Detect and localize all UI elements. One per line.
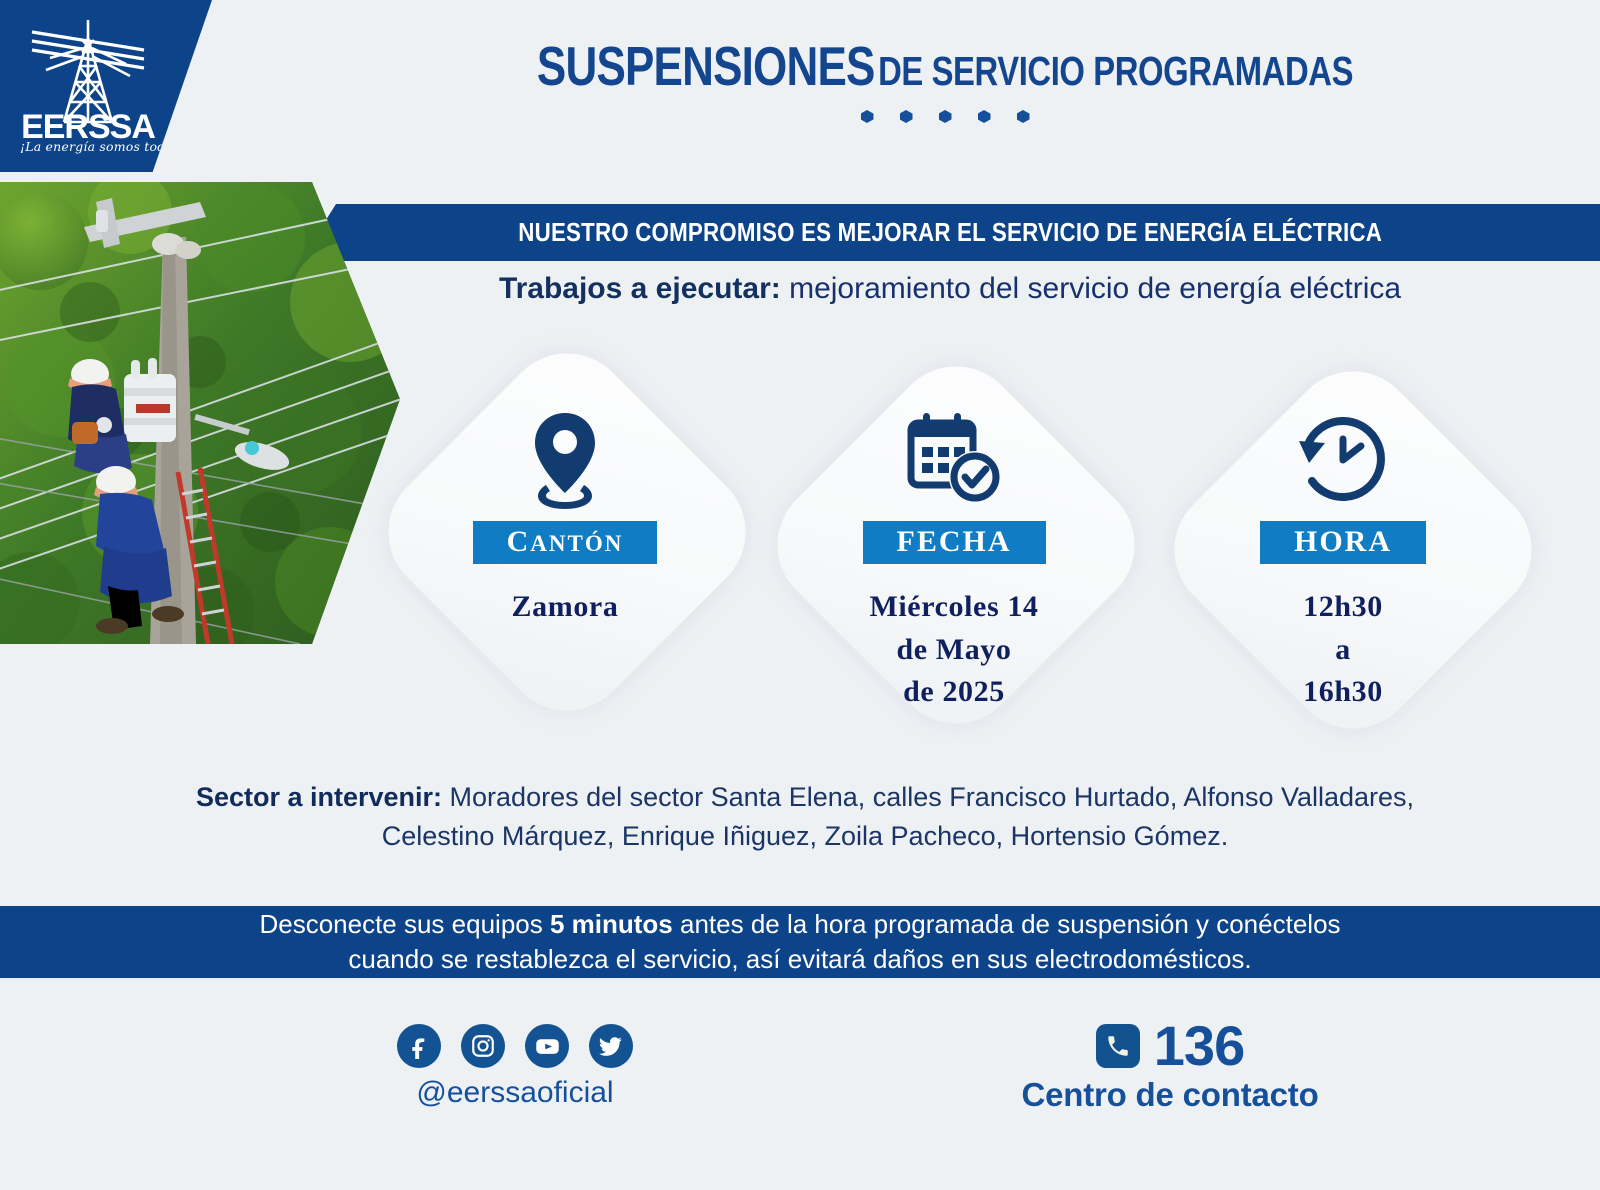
card-value-hora: 12h30 a 16h30 — [1303, 586, 1383, 714]
title-rest: DE SERVICIO PROGRAMADAS — [878, 48, 1353, 94]
sector-label: Sector a intervenir: — [196, 782, 442, 812]
value-line: de Mayo — [869, 629, 1038, 672]
contact-block: 136 Centro de contacto — [960, 1018, 1380, 1114]
warning-text-c: antes de la hora programada de suspensió… — [673, 909, 1341, 939]
contact-number: 136 — [1154, 1018, 1244, 1074]
eerssa-logo-badge: EERSSA ¡La energía somos todos! — [0, 0, 212, 172]
value-line: Zamora — [512, 586, 619, 629]
location-pin-icon — [522, 403, 608, 515]
warning-text-a: Desconecte sus equipos — [259, 909, 550, 939]
card-badge-hora: HORA — [1260, 521, 1426, 564]
title-line: SUSPENSIONES DE SERVICIO PROGRAMADAS — [429, 34, 1461, 98]
badge-rest: ANTÓN — [530, 531, 623, 556]
instagram-icon[interactable] — [461, 1024, 505, 1068]
card-canton: CANTÓN Zamora — [370, 355, 760, 755]
social-handle[interactable]: @eerssaoficial — [380, 1076, 650, 1110]
sector-line1: Moradores del sector Santa Elena, calles… — [450, 782, 1415, 812]
value-line: 16h30 — [1303, 671, 1383, 714]
logo-tagline: ¡La energía somos todos! — [20, 139, 160, 154]
dot-2 — [900, 110, 913, 123]
youtube-icon[interactable] — [525, 1024, 569, 1068]
social-icons-row — [380, 1024, 650, 1068]
clock-history-icon — [1295, 403, 1391, 515]
card-value-canton: Zamora — [512, 586, 619, 629]
contact-row: 136 — [960, 1018, 1380, 1074]
dot-4 — [978, 110, 991, 123]
info-cards: CANTÓN Zamora — [370, 355, 1560, 755]
dot-3 — [939, 110, 952, 123]
value-line: Miércoles 14 — [869, 586, 1038, 629]
value-line: a — [1303, 629, 1383, 672]
social-block: @eerssaoficial — [380, 1024, 650, 1110]
dot-5 — [1017, 110, 1030, 123]
card-value-fecha: Miércoles 14 de Mayo de 2025 — [869, 586, 1038, 714]
commitment-text: NUESTRO COMPROMISO ES MEJORAR EL SERVICI… — [518, 217, 1382, 248]
warning-line-2: cuando se restablezca el servicio, así e… — [348, 942, 1251, 977]
commitment-banner: NUESTRO COMPROMISO ES MEJORAR EL SERVICI… — [300, 204, 1600, 261]
poster-canvas: NUESTRO COMPROMISO ES MEJORAR EL SERVICI… — [0, 0, 1600, 1190]
warning-strip: Desconecte sus equipos 5 minutos antes d… — [0, 906, 1600, 978]
value-line: de 2025 — [869, 671, 1038, 714]
title-bold: SUSPENSIONES — [537, 35, 875, 97]
lineworkers-photo — [0, 182, 400, 644]
sector-line2: Celestino Márquez, Enrique Iñiguez, Zoil… — [382, 821, 1228, 851]
warning-emphasis: 5 minutos — [550, 909, 673, 939]
warning-line-1: Desconecte sus equipos 5 minutos antes d… — [259, 907, 1340, 942]
twitter-icon[interactable] — [589, 1024, 633, 1068]
card-fecha: FECHA Miércoles 14 de Mayo de 2025 — [759, 355, 1149, 755]
value-line: 12h30 — [1303, 586, 1383, 629]
card-hora: HORA 12h30 a 16h30 — [1148, 355, 1538, 755]
works-value: mejoramiento del servicio de energía elé… — [789, 272, 1401, 305]
phone-icon[interactable] — [1096, 1024, 1140, 1068]
works-line: Trabajos a ejecutar: mejoramiento del se… — [300, 272, 1600, 306]
card-badge-canton: CANTÓN — [473, 521, 658, 564]
sector-text: Sector a intervenir: Moradores del secto… — [120, 778, 1490, 856]
title-dots — [300, 110, 1590, 123]
calendar-check-icon — [905, 403, 1003, 515]
page-title: SUSPENSIONES DE SERVICIO PROGRAMADAS — [300, 34, 1590, 123]
badge-cap: C — [507, 525, 531, 558]
works-label: Trabajos a ejecutar: — [499, 272, 781, 305]
contact-label: Centro de contacto — [960, 1076, 1380, 1114]
dot-1 — [861, 110, 874, 123]
card-badge-fecha: FECHA — [863, 521, 1046, 564]
facebook-icon[interactable] — [397, 1024, 441, 1068]
